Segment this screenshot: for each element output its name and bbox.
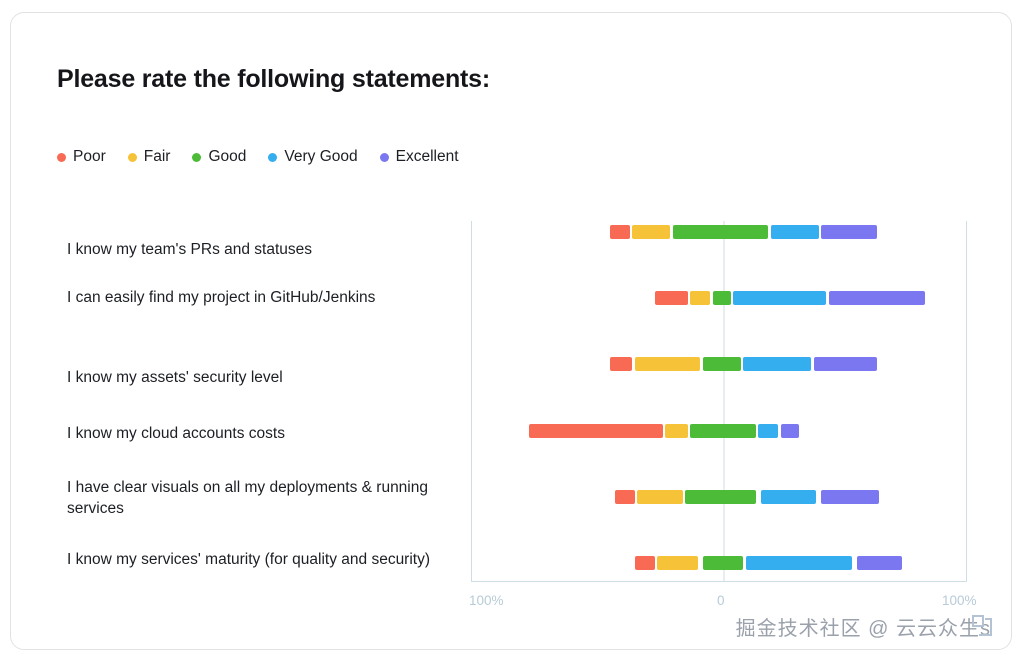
legend-item-excellent[interactable]: Excellent [380,148,459,166]
diverging-bar-chart [471,209,967,583]
chart-card: Please rate the following statements: Po… [10,12,1012,650]
slide-page: Please rate the following statements: Po… [0,0,1024,664]
bar-segment-poor[interactable] [610,357,633,371]
bar-segment-good[interactable] [685,490,756,504]
chart-row [471,556,967,570]
bar-segment-good[interactable] [713,291,731,305]
bar-segment-poor[interactable] [610,225,630,239]
legend-item-fair[interactable]: Fair [128,148,171,166]
bar-segment-good[interactable] [703,357,741,371]
chart-row [471,424,967,438]
statement-label: I know my services' maturity (for qualit… [67,549,447,570]
legend-item-label: Excellent [396,148,459,166]
axis-tick-center: 0 [717,593,725,608]
legend-dot-icon [380,153,389,162]
axis-center-line [723,221,725,581]
watermark-text: 掘金技术社区 @ 云云众生s [736,612,991,641]
legend-item-label: Poor [73,148,106,166]
bar-segment-good[interactable] [673,225,769,239]
legend-item-very-good[interactable]: Very Good [268,148,357,166]
statement-label: I can easily find my project in GitHub/J… [67,287,447,308]
bar-segment-good[interactable] [690,424,756,438]
legend-item-label: Very Good [284,148,357,166]
bar-segment-poor[interactable] [529,424,663,438]
bar-segment-very-good[interactable] [758,424,778,438]
bar-segment-very-good[interactable] [771,225,819,239]
chart-row [471,357,967,371]
statement-label: I know my cloud accounts costs [67,423,447,444]
legend-item-good[interactable]: Good [192,148,246,166]
bar-segment-fair[interactable] [635,357,701,371]
chart-legend: PoorFairGoodVery GoodExcellent [57,148,459,166]
statement-label: I know my team's PRs and statuses [67,239,447,260]
bar-segment-excellent[interactable] [821,225,876,239]
legend-item-label: Fair [144,148,171,166]
juejin-logo-icon [969,613,995,639]
bar-segment-poor[interactable] [635,556,655,570]
statement-label: I have clear visuals on all my deploymen… [67,477,447,519]
axis-tick-right: 100% [942,593,977,608]
bar-segment-excellent[interactable] [829,291,925,305]
axis-bottom-border [471,581,967,582]
bar-segment-excellent[interactable] [781,424,799,438]
bar-segment-excellent[interactable] [814,357,877,371]
bar-segment-good[interactable] [703,556,743,570]
bar-segment-very-good[interactable] [761,490,816,504]
legend-dot-icon [268,153,277,162]
page-title: Please rate the following statements: [57,65,490,94]
legend-item-poor[interactable]: Poor [57,148,106,166]
bar-segment-excellent[interactable] [821,490,879,504]
bar-segment-very-good[interactable] [733,291,826,305]
bar-segment-fair[interactable] [637,490,682,504]
bar-segment-fair[interactable] [657,556,697,570]
chart-row [471,490,967,504]
bar-segment-fair[interactable] [665,424,688,438]
axis-right-border [966,221,967,581]
axis-left-border [471,221,472,581]
bar-segment-very-good[interactable] [746,556,852,570]
statement-label: I know my assets' security level [67,367,447,388]
watermark: 掘金技术社区 @ 云云众生s [736,612,995,641]
legend-dot-icon [192,153,201,162]
bar-segment-poor[interactable] [655,291,688,305]
chart-row [471,225,967,239]
legend-dot-icon [57,153,66,162]
legend-dot-icon [128,153,137,162]
bar-segment-poor[interactable] [615,490,635,504]
bar-segment-fair[interactable] [690,291,710,305]
axis-tick-left: 100% [469,593,504,608]
bar-segment-very-good[interactable] [743,357,811,371]
bar-segment-excellent[interactable] [857,556,902,570]
legend-item-label: Good [208,148,246,166]
chart-row [471,291,967,305]
bar-segment-fair[interactable] [632,225,670,239]
